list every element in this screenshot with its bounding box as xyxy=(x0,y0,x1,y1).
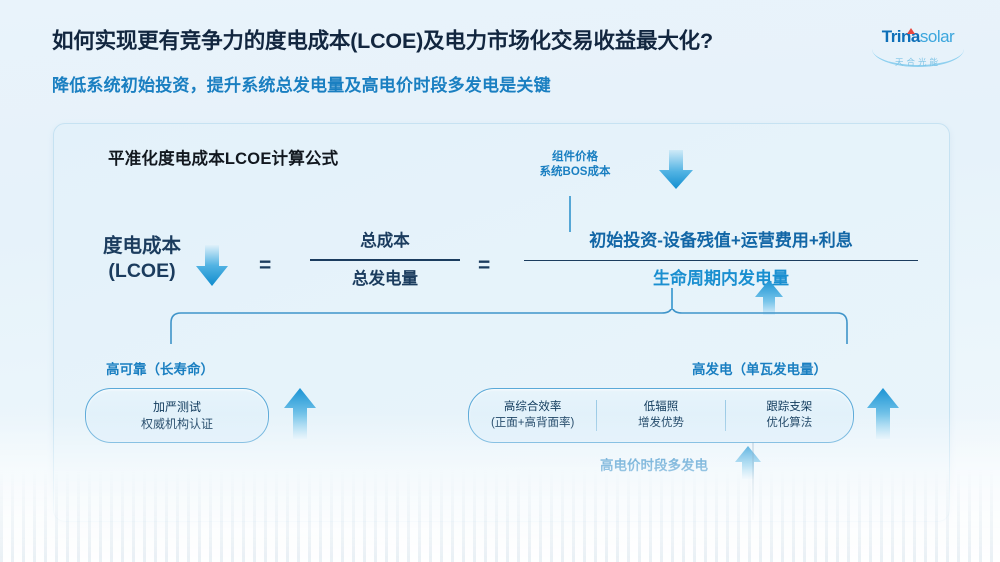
fraction-detailed-numerator: 初始投资-设备残值+运营费用+利息 xyxy=(524,232,918,251)
up-arrow-icon xyxy=(283,388,317,440)
down-arrow-icon xyxy=(658,150,694,190)
formula-card-title: 平准化度电成本LCOE计算公式 xyxy=(108,145,338,169)
reliability-pill: 加严测试 权威机构认证 xyxy=(85,388,269,443)
fraction-detailed-denominator: 生命周期内发电量 xyxy=(524,270,918,289)
pillar-label-generation: 高发电（单瓦发电量） xyxy=(692,358,827,378)
fraction-simple-bar xyxy=(310,259,460,260)
pill-cell-line-2: 权威机构认证 xyxy=(86,416,268,432)
pill-cell-line-1: 跟踪支架 xyxy=(726,400,853,415)
pill-cell-line-2: (正面+高背面率) xyxy=(469,416,596,431)
up-arrow-icon xyxy=(734,446,762,480)
brace-stem-line xyxy=(671,288,673,310)
down-arrow-icon xyxy=(195,245,229,287)
fraction-simple-denominator: 总发电量 xyxy=(310,270,460,288)
grouping-brace xyxy=(169,309,849,345)
annotation-connector-line xyxy=(569,196,571,232)
pill-cell: 低辐照 增发优势 xyxy=(596,400,724,431)
fraction-simple: 总成本 总发电量 xyxy=(310,232,460,288)
logo-chinese-name: 天合光能 xyxy=(862,56,974,68)
equals-sign-1: = xyxy=(259,254,271,278)
generation-pill: 高综合效率 (正面+高背面率) 低辐照 增发优势 跟踪支架 优化算法 xyxy=(468,388,854,443)
up-arrow-icon xyxy=(866,388,900,440)
pill-cell: 跟踪支架 优化算法 xyxy=(725,400,853,431)
pill-cell-line-2: 增发优势 xyxy=(597,416,724,431)
fraction-simple-numerator: 总成本 xyxy=(310,232,460,250)
fraction-detailed-bar xyxy=(524,260,918,261)
peak-price-note-label: 高电价时段多发电 xyxy=(600,454,708,474)
equals-sign-2: = xyxy=(478,254,490,278)
pill-cell-line-1: 低辐照 xyxy=(597,400,724,415)
formula-card: 平准化度电成本LCOE计算公式 组件价格 系统BOS成本 度电成本 (LCOE) xyxy=(53,123,950,522)
logo-wordmark: Trinasolar xyxy=(862,28,974,45)
fraction-detailed: 初始投资-设备残值+运营费用+利息 生命周期内发电量 xyxy=(524,232,918,289)
pill-cell-line-2: 优化算法 xyxy=(726,416,853,431)
trinasolar-logo: Trinasolar 天合光能 xyxy=(862,28,974,80)
pillar-label-reliability: 高可靠（长寿命） xyxy=(106,358,214,378)
pill-cell: 高综合效率 (正面+高背面率) xyxy=(469,400,596,431)
cost-drivers-annotation: 组件价格 系统BOS成本 xyxy=(500,150,650,180)
page-title: 如何实现更有竞争力的度电成本(LCOE)及电力市场化交易收益最大化? xyxy=(52,24,713,55)
cost-driver-line-1: 组件价格 xyxy=(500,150,650,165)
logo-word-solar: solar xyxy=(920,27,954,46)
slide-root: 如何实现更有竞争力的度电成本(LCOE)及电力市场化交易收益最大化? 降低系统初… xyxy=(0,0,1000,562)
pill-cell-line-1: 加严测试 xyxy=(86,399,268,415)
cost-driver-line-2: 系统BOS成本 xyxy=(500,165,650,180)
pill-cell: 加严测试 权威机构认证 xyxy=(86,399,268,431)
pill-cell-line-1: 高综合效率 xyxy=(469,400,596,415)
page-subtitle: 降低系统初始投资，提升系统总发电量及高电价时段多发电是关键 xyxy=(52,71,551,96)
